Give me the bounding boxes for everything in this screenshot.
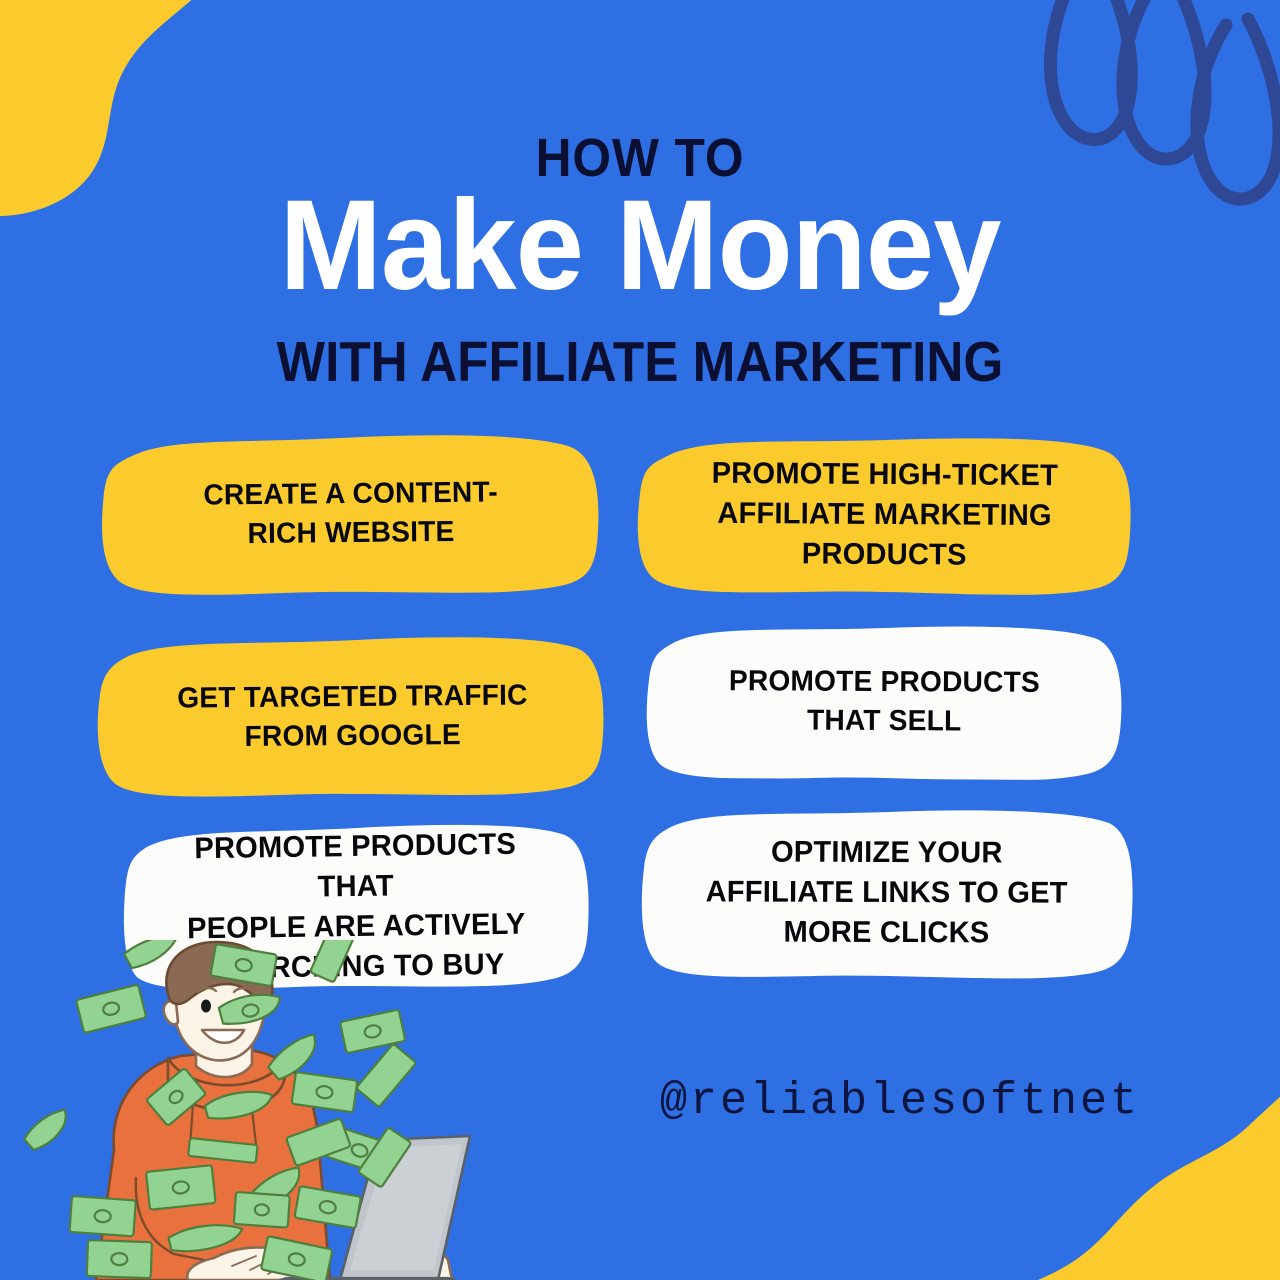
tip-card-6-label: OPTIMIZE YOURAFFILIATE LINKS TO GETMORE … [706,833,1068,954]
page-title: Make Money [26,182,1255,310]
infographic-canvas: HOW TO Make Money WITH AFFILIATE MARKETI… [0,0,1280,1280]
tip-card-3-label: GET TARGETED TRAFFICFROM GOOGLE [177,677,528,757]
tip-card-2-label: PROMOTE HIGH-TICKETAFFILIATE MARKETINGPR… [711,454,1058,576]
tip-card-6[interactable]: OPTIMIZE YOURAFFILIATE LINKS TO GETMORE … [640,807,1135,979]
tip-card-2[interactable]: PROMOTE HIGH-TICKETAFFILIATE MARKETINGPR… [635,434,1133,595]
person-with-laptop-illustration [18,940,518,1280]
tip-card-4-label: PROMOTE PRODUCTSTHAT SELL [728,662,1039,741]
tip-card-3[interactable]: GET TARGETED TRAFFICFROM GOOGLE [94,636,610,798]
social-handle: @reliablesoftnet [640,1076,1160,1127]
page-subtitle: WITH AFFILIATE MARKETING [64,334,1216,391]
tip-card-4[interactable]: PROMOTE PRODUCTSTHAT SELL [645,623,1124,781]
tip-card-1[interactable]: CREATE A CONTENT-RICH WEBSITE [97,431,604,596]
tip-card-1-label: CREATE A CONTENT-RICH WEBSITE [203,474,498,554]
